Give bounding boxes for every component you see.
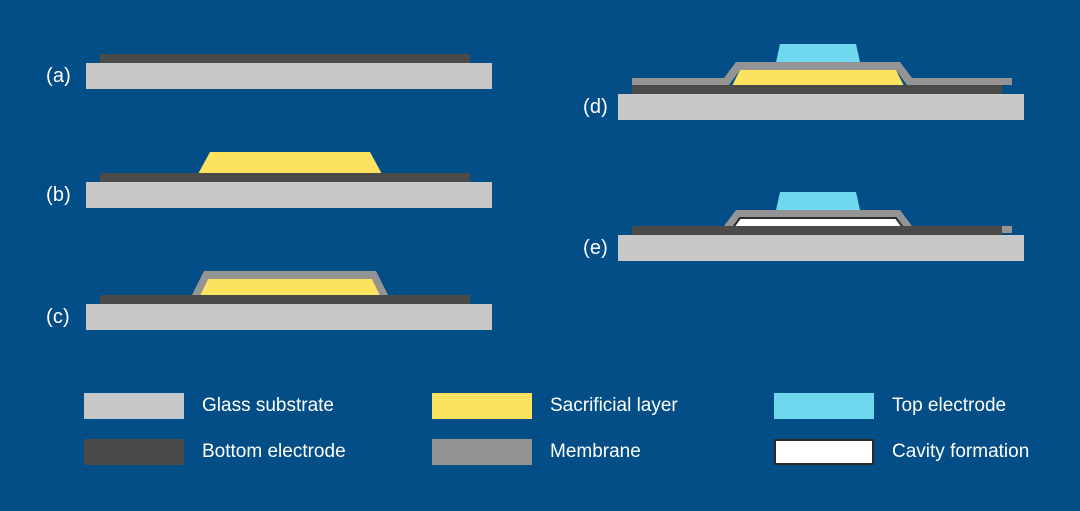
process-flow-diagram: (a) (b) (c) (d) (e) Glass substrate Bott… bbox=[0, 0, 1080, 506]
legend-swatch-sacrificial-layer bbox=[432, 393, 532, 419]
diagram-canvas bbox=[0, 0, 1080, 506]
panel-d bbox=[618, 44, 1024, 120]
panel-label-b: (b) bbox=[46, 184, 71, 207]
panel-label-d: (d) bbox=[583, 96, 608, 119]
legend-item-glass-substrate: Glass substrate bbox=[84, 393, 334, 419]
legend-swatch-bottom-electrode bbox=[84, 439, 184, 465]
legend-label-cavity-formation: Cavity formation bbox=[892, 441, 1029, 463]
legend-label-sacrificial-layer: Sacrificial layer bbox=[550, 395, 678, 417]
bottom-electrode-layer bbox=[100, 295, 470, 304]
sacrificial-layer-shape bbox=[198, 152, 382, 174]
panel-a bbox=[86, 54, 492, 89]
panel-label-c: (c) bbox=[46, 306, 70, 329]
glass-substrate-layer bbox=[86, 182, 492, 208]
legend-swatch-cavity-formation bbox=[774, 439, 874, 465]
legend-label-bottom-electrode: Bottom electrode bbox=[202, 441, 346, 463]
legend-label-top-electrode: Top electrode bbox=[892, 395, 1006, 417]
bottom-electrode-layer bbox=[632, 226, 1002, 235]
panel-b bbox=[86, 152, 492, 208]
legend-swatch-glass-substrate bbox=[84, 393, 184, 419]
legend-swatch-membrane bbox=[432, 439, 532, 465]
bottom-electrode-layer bbox=[100, 173, 470, 182]
panel-label-a: (a) bbox=[46, 65, 71, 88]
legend-item-top-electrode: Top electrode bbox=[774, 393, 1006, 419]
bottom-electrode-layer bbox=[632, 85, 1002, 94]
legend-item-bottom-electrode: Bottom electrode bbox=[84, 439, 346, 465]
top-electrode-shape bbox=[776, 192, 860, 210]
top-electrode-shape bbox=[776, 44, 860, 62]
legend-label-membrane: Membrane bbox=[550, 441, 641, 463]
glass-substrate-layer bbox=[86, 63, 492, 89]
legend-swatch-top-electrode bbox=[774, 393, 874, 419]
panel-label-e: (e) bbox=[583, 237, 608, 260]
legend-item-sacrificial-layer: Sacrificial layer bbox=[432, 393, 678, 419]
glass-substrate-layer bbox=[86, 304, 492, 330]
panel-e bbox=[618, 192, 1024, 261]
panel-c bbox=[86, 271, 492, 330]
legend-item-cavity-formation: Cavity formation bbox=[774, 439, 1029, 465]
legend-item-membrane: Membrane bbox=[432, 439, 641, 465]
glass-substrate-layer bbox=[618, 94, 1024, 120]
bottom-electrode-layer bbox=[100, 54, 470, 63]
legend-label-glass-substrate: Glass substrate bbox=[202, 395, 334, 417]
glass-substrate-layer bbox=[618, 235, 1024, 261]
